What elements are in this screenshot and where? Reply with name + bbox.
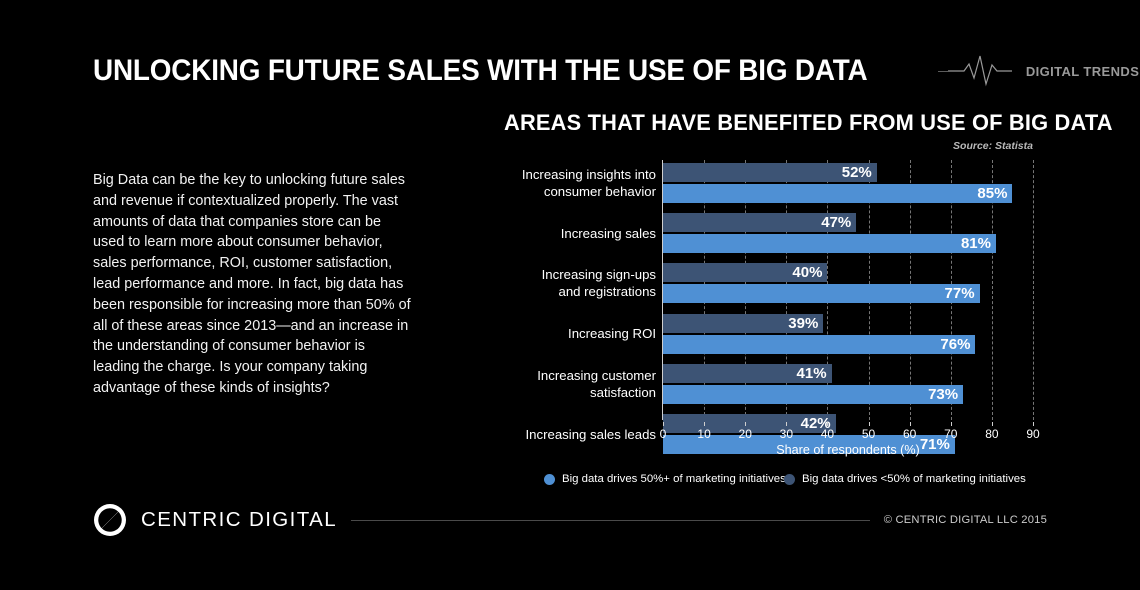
logo-wordmark: CENTRIC DIGITAL — [141, 508, 337, 532]
bar-row: 85% — [663, 184, 1033, 203]
centric-digital-logo-icon — [93, 503, 127, 537]
bar: 39% — [663, 314, 823, 333]
chart-source: Source: Statista — [953, 140, 1033, 152]
bar: 41% — [663, 364, 832, 383]
gridline — [1033, 160, 1034, 420]
bar: 77% — [663, 284, 980, 303]
bar-value-label: 52% — [842, 163, 872, 182]
x-tick-mark — [910, 422, 911, 426]
x-tick-label: 40 — [821, 427, 834, 441]
heartbeat-pulse-icon — [948, 54, 1012, 88]
category-label: Increasing customersatisfaction — [504, 367, 656, 401]
x-tick-mark — [992, 422, 993, 426]
category-label-line: and registrations — [504, 283, 656, 300]
bar-row: 73% — [663, 385, 1033, 404]
brand-label: DIGITAL TRENDS — [1026, 64, 1139, 79]
bar: 85% — [663, 184, 1012, 203]
bar-group: 39%76% — [663, 314, 1033, 354]
category-label-line: Increasing sales leads — [504, 426, 656, 443]
bar-row: 41% — [663, 364, 1033, 383]
x-tick-mark — [663, 422, 664, 426]
legend-item[interactable]: Big data drives <50% of marketing initia… — [784, 470, 1026, 488]
bar-group: 52%85% — [663, 163, 1033, 203]
bar-value-label: 73% — [928, 385, 958, 404]
x-tick-label: 80 — [985, 427, 998, 441]
bar-chart: Increasing insights intoconsumer behavio… — [504, 160, 1044, 460]
copyright-text: © CENTRIC DIGITAL LLC 2015 — [884, 514, 1047, 526]
category-label-line: consumer behavior — [504, 183, 656, 200]
bar-row: 77% — [663, 284, 1033, 303]
bar: 40% — [663, 263, 827, 282]
x-tick-label: 50 — [862, 427, 875, 441]
chart-title: AREAS THAT HAVE BENEFITED FROM USE OF BI… — [504, 110, 1113, 136]
bar-row: 39% — [663, 314, 1033, 333]
bar-value-label: 41% — [797, 364, 827, 383]
bar-value-label: 81% — [961, 234, 991, 253]
page-title: UNLOCKING FUTURE SALES WITH THE USE OF B… — [93, 54, 868, 88]
x-tick-label: 30 — [780, 427, 793, 441]
bar-group: 47%81% — [663, 213, 1033, 253]
bar-value-label: 40% — [792, 263, 822, 282]
category-label: Increasing sales leads — [504, 426, 656, 443]
x-tick-mark — [786, 422, 787, 426]
x-tick-mark — [704, 422, 705, 426]
chart-legend: Big data drives 50%+ of marketing initia… — [504, 470, 1044, 488]
x-tick-label: 0 — [660, 427, 667, 441]
legend-label: Big data drives <50% of marketing initia… — [802, 473, 1026, 485]
x-tick-label: 70 — [944, 427, 957, 441]
legend-swatch-icon — [544, 474, 555, 485]
category-label-line: Increasing insights into — [504, 166, 656, 183]
bar-value-label: 47% — [821, 213, 851, 232]
legend-item[interactable]: Big data drives 50%+ of marketing initia… — [544, 470, 786, 488]
bar-value-label: 39% — [788, 314, 818, 333]
legend-swatch-icon — [784, 474, 795, 485]
x-tick-mark — [827, 422, 828, 426]
infographic-page: UNLOCKING FUTURE SALES WITH THE USE OF B… — [0, 0, 1140, 590]
bar-value-label: 76% — [940, 335, 970, 354]
category-label: Increasing ROI — [504, 325, 656, 342]
bar-group: 40%77% — [663, 263, 1033, 303]
bar-value-label: 85% — [977, 184, 1007, 203]
x-tick-mark — [745, 422, 746, 426]
header-divider-left — [938, 71, 948, 72]
bar-group: 41%73% — [663, 364, 1033, 404]
x-tick-label: 10 — [697, 427, 710, 441]
bar-row: 52% — [663, 163, 1033, 182]
body-paragraph: Big Data can be the key to unlocking fut… — [93, 170, 413, 399]
category-label-line: Increasing customer — [504, 367, 656, 384]
bar-row: 81% — [663, 234, 1033, 253]
x-tick-label: 60 — [903, 427, 916, 441]
category-label-line: Increasing ROI — [504, 325, 656, 342]
category-axis-labels: Increasing insights intoconsumer behavio… — [504, 160, 656, 420]
footer: CENTRIC DIGITAL © CENTRIC DIGITAL LLC 20… — [93, 500, 1047, 540]
x-axis-ticks: 0102030405060708090 — [663, 422, 1033, 438]
bar-row: 47% — [663, 213, 1033, 232]
legend-label: Big data drives 50%+ of marketing initia… — [562, 473, 786, 485]
category-label: Increasing insights intoconsumer behavio… — [504, 166, 656, 200]
x-tick-label: 90 — [1026, 427, 1039, 441]
bar-row: 76% — [663, 335, 1033, 354]
category-label: Increasing sign-upsand registrations — [504, 266, 656, 300]
category-label-line: satisfaction — [504, 384, 656, 401]
bar-row: 40% — [663, 263, 1033, 282]
category-label-line: Increasing sign-ups — [504, 266, 656, 283]
category-label: Increasing sales — [504, 225, 656, 242]
footer-divider — [351, 520, 870, 521]
bar: 52% — [663, 163, 877, 182]
bar: 76% — [663, 335, 975, 354]
bar: 81% — [663, 234, 996, 253]
bar: 47% — [663, 213, 856, 232]
category-label-line: Increasing sales — [504, 225, 656, 242]
x-tick-mark — [1033, 422, 1034, 426]
header: UNLOCKING FUTURE SALES WITH THE USE OF B… — [93, 50, 1047, 92]
x-tick-mark — [951, 422, 952, 426]
bar: 73% — [663, 385, 963, 404]
x-axis-title: Share of respondents (%) — [663, 443, 1033, 457]
x-tick-mark — [869, 422, 870, 426]
plot-area: 52%85%47%81%40%77%39%76%41%73%42%71% — [663, 160, 1033, 420]
x-tick-label: 20 — [739, 427, 752, 441]
bar-value-label: 77% — [945, 284, 975, 303]
